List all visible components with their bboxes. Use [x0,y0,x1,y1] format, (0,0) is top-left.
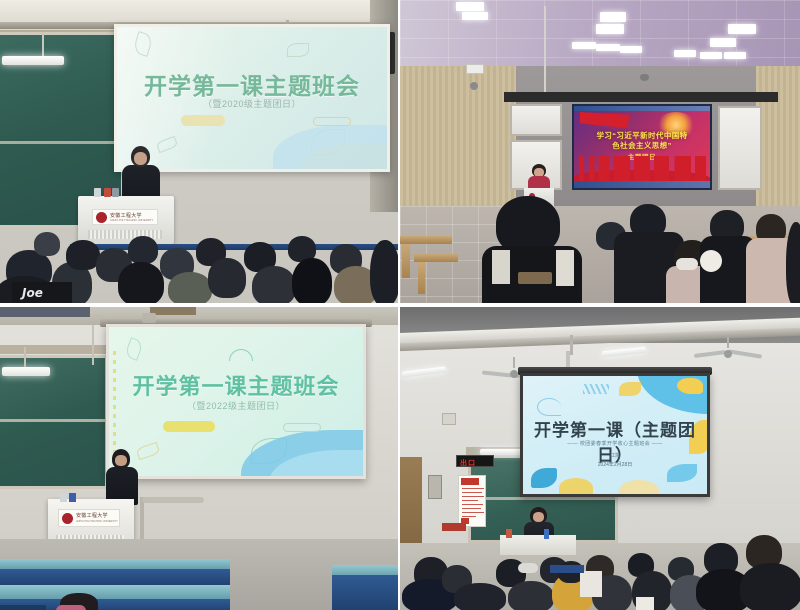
cup [94,188,101,197]
podium-nameplate: 安徽工程大学 ANHUI POLYTECHNIC UNIVERSITY [92,209,158,225]
audience-head [66,240,100,270]
jacket-collar [556,250,574,286]
classroom-scene-top-left: 开学第一课主题班会 （暨2020级主题团日） 安徽工程大学 ANHUI POLY… [0,0,398,303]
slide-subtitle: （暨2022级主题团日） [109,399,363,412]
sand-blob-decoration [619,480,659,494]
desk-front [332,575,398,610]
fluorescent-tube [2,56,64,65]
ceiling-light [724,52,746,59]
ceiling-light [456,2,484,11]
ceiling-light [596,44,620,51]
flag-decoration [580,112,630,128]
leaf-decoration [136,442,161,460]
desk-leg [402,244,410,278]
camera-icon [470,82,478,90]
ceiling-light [596,24,624,34]
ceiling-light [700,52,722,59]
jacket-collar [492,250,510,284]
audience-jacket [56,605,86,610]
fan-hub [724,350,732,358]
fan-hub [510,370,518,378]
lecture-hall-scene: 学习“习近平新时代中国特 色社会主义思想” 主题团日 [400,0,800,303]
led-title-line2: 色社会主义思想” [574,140,710,151]
fluorescent-tube [2,367,50,376]
face-mask [676,258,698,270]
audience-head [292,258,332,303]
ceiling-light [710,38,736,47]
teacher-desk [500,535,576,555]
slide-date: 2024年2月28日 [523,461,707,468]
upper-strip [150,307,196,315]
podium-nameplate: 安徽工程大学 ANHUI POLYTECHNIC UNIVERSITY [58,509,120,527]
chair-back [550,565,584,573]
bottle [544,529,549,539]
university-name: 安徽工程大学 [76,512,108,519]
pipe-horizontal [142,497,204,503]
blue-leaf-decoration [531,468,557,488]
fan-blade [482,370,512,377]
ceiling-light [620,46,642,53]
university-name: 安徽工程大学 [110,212,142,219]
notice-board [458,475,486,527]
university-logo [96,212,107,223]
led-toolbar-bottom [574,181,710,188]
support-pole [544,6,546,98]
audience-head [740,563,800,610]
classroom-scene-bottom-right: 出口 [400,307,800,610]
led-display-wall: 学习“习近平新时代中国特 色社会主义思想” 主题团日 [572,104,712,190]
classroom-scene-bottom-left: 开学第一课主题班会 （暨2022级主题团日） 安徽工程大学 ANHUI POLY… [0,307,398,610]
university-name-en: ANHUI POLYTECHNIC UNIVERSITY [76,520,118,523]
ceiling-light [462,12,488,20]
city-skyline [574,156,710,182]
ceiling-light [600,12,626,22]
jacket-patch [518,272,552,284]
audience-head [118,262,164,303]
projection-screen: 开学第一课主题班会 （暨2022级主题团日） [109,327,363,476]
fan-rod [727,337,729,348]
yellow-leaf-decoration [619,382,641,396]
desk-leg [418,262,425,294]
yellow-leaf-decoration [559,478,593,494]
jacket-text: Joe [22,286,43,300]
exit-sign-text: 出口 [460,458,476,468]
projection-screen-frame: 开学第一课主题班会 （暨2022级主题团日） [106,324,366,479]
panel-top-right: 学习“习近平新时代中国特 色社会主义思想” 主题团日 [400,0,800,303]
wall-box [442,413,456,425]
cup [506,529,512,538]
lamp-wire [42,32,44,56]
arch-decoration [229,349,253,361]
cup [69,493,76,502]
audience-head [508,581,554,610]
slide-subtitle: （暨2020级主题团日） [117,97,387,110]
whiteboard-panel [510,104,562,136]
ceiling-fan [700,347,756,361]
notice-header [461,478,479,485]
conduit [570,335,573,355]
paper-sheet [636,597,654,610]
audience-head [454,583,506,610]
badge-pill-outline [313,117,351,126]
podium: 安徽工程大学 ANHUI POLYTECHNIC UNIVERSITY [78,196,174,244]
ceiling-light [674,50,696,57]
ceiling-light [728,24,756,34]
hatch-decoration [583,384,609,394]
yellow-leaf-decoration [677,378,703,394]
chair-back [0,605,46,610]
cup [60,493,67,502]
led-toolbar-top [574,106,710,111]
cup [112,188,119,197]
panel-bottom-left: 开学第一课主题班会 （暨2022级主题团日） 安徽工程大学 ANHUI POLY… [0,307,398,610]
badge-pill-outline [283,423,321,432]
electrical-box [428,475,442,499]
screen-mount [142,313,156,323]
projection-screen-frame: 开学第一课（主题团日） —— 校团委春季开学收心主题班会 —— 江凯 2024年… [520,373,710,497]
wall-panel [466,64,484,74]
speaker-face [134,152,147,165]
panel-gutter-horizontal [0,303,800,307]
leaf-decoration [287,43,309,57]
camera-icon [640,74,649,81]
slide-title: 开学第一课主题班会 [109,369,363,401]
panel-top-left: 开学第一课主题班会 （暨2020级主题团日） 安徽工程大学 ANHUI POLY… [0,0,398,303]
lamp-wire [92,325,94,365]
audience-head [786,222,800,303]
desk [414,254,458,262]
upper-strip [0,307,90,317]
dark-wall-band [504,92,778,102]
audience-head [208,258,246,298]
fan-rod [513,357,515,368]
speaker-face [533,512,544,522]
wall-plaque [442,523,466,531]
speaker-person [106,449,138,505]
paper-sheet [580,571,602,597]
lamp-wire [24,347,26,367]
desk [400,236,452,244]
audience-head [168,272,212,303]
ceiling-light [572,42,596,49]
hair-accessory [700,250,722,272]
wood-wall-right [756,46,800,214]
whiteboard-panel [718,106,762,190]
audience-head [370,240,398,303]
exit-sign: 出口 [456,455,494,467]
face-mask [518,563,538,573]
audience-head [34,232,60,256]
photo-collage: 开学第一课主题班会 （暨2020级主题团日） 安徽工程大学 ANHUI POLY… [0,0,800,610]
university-name-en: ANHUI POLYTECHNIC UNIVERSITY [110,219,153,222]
slide-presenter: 江凯 [523,452,707,459]
audience-head [128,236,158,264]
cup [104,188,111,197]
leaf-decoration [124,337,144,361]
badge-pill-yellow [163,421,215,432]
slide-title: 开学第一课主题班会 [117,67,387,101]
projection-screen: 开学第一课（主题团日） —— 校团委春季开学收心主题班会 —— 江凯 2024年… [523,376,707,494]
panel-bottom-right: 出口 [400,307,800,610]
badge-pill-yellow [181,115,225,126]
university-logo [62,513,73,524]
slide-subtitle: —— 校团委春季开学收心主题班会 —— [523,440,707,447]
audience-head [252,266,296,303]
speaker-face [115,455,127,466]
swirl-decoration [537,398,561,416]
